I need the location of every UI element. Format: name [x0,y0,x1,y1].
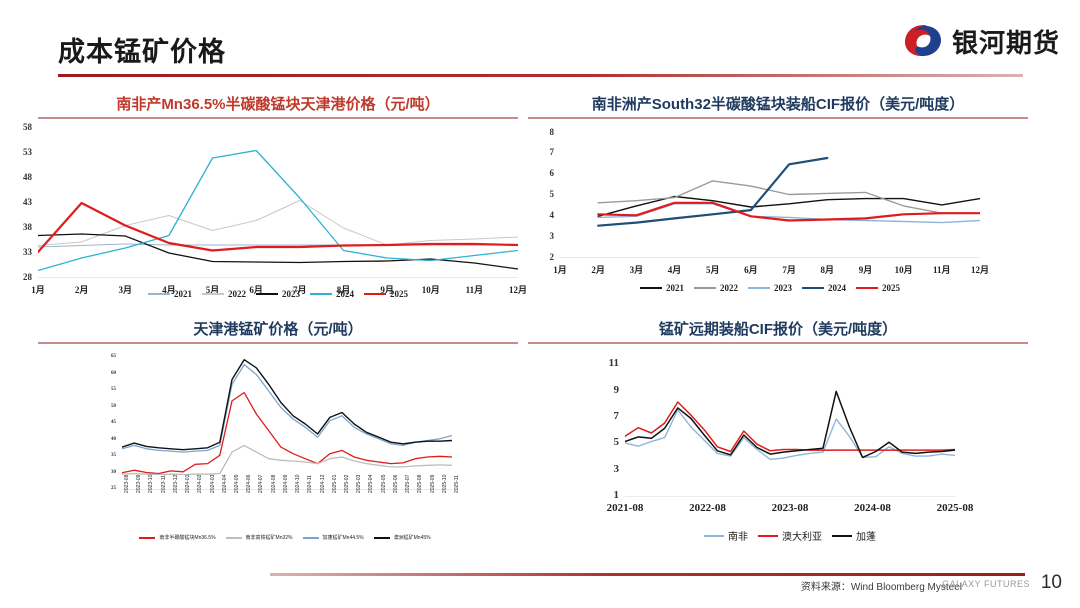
x-tick: 2025-08 [919,502,991,514]
x-tick: 2023-11 [161,475,167,493]
y-tick: 9 [587,384,619,396]
x-tick: 2024-03 [210,475,216,493]
x-tick: 2025-03 [356,475,362,493]
legend-item[interactable]: 2025 [364,289,408,299]
legend-item[interactable]: 南非 [704,528,748,543]
x-tick: 2024-07 [258,475,264,493]
panel-bottom-left: 天津港锰矿价格（元/吨） [38,318,518,344]
x-tick: 2025-01 [332,475,338,493]
x-tick: 2月 [582,263,614,276]
x-tick: 2025-09 [430,475,436,493]
y-tick: 3 [587,463,619,475]
x-tick: 7月 [773,263,805,276]
y-tick: 35 [84,453,116,458]
chart-bl [122,358,452,490]
x-tick: 2023-09 [136,475,142,493]
legend-label: 2021 [174,289,192,299]
legend-label: 加蓬锰矿Mn44.5% [323,534,364,541]
x-tick: 2023-08 [754,502,826,514]
chart-tl [38,128,518,278]
panel-bottom-right-title: 锰矿远期装船CIF报价（美元/吨度） [528,318,1028,339]
y-tick: 3 [522,231,554,241]
legend-item[interactable]: 澳大利亚 [758,528,822,543]
legend-label: 南非高铁锰矿Mn32% [246,534,293,541]
legend-label: 2025 [882,283,900,293]
y-tick: 30 [84,470,116,475]
legend-label: 加蓬 [856,528,876,543]
legend-label: 南非 [728,528,748,543]
chart-tr-legend: 20212022202320242025 [560,283,980,293]
legend-swatch [256,293,278,295]
y-tick: 40 [84,437,116,442]
y-tick: 28 [0,272,32,282]
x-tick: 4月 [659,263,691,276]
legend-item[interactable]: 2022 [694,283,738,293]
panel-bottom-left-title: 天津港锰矿价格（元/吨） [38,318,518,339]
x-tick: 11月 [926,263,958,276]
x-tick: 10月 [888,263,920,276]
legend-label: 南非半碳酸锰块Mn36.5% [159,534,215,541]
x-tick: 2024-08 [271,475,277,493]
legend-label: 2025 [390,289,408,299]
legend-swatch [139,537,155,539]
y-tick: 43 [0,197,32,207]
panel-top-right: 南非洲产South32半碳酸锰块装船CIF报价（美元/吨度） [528,93,1028,119]
x-tick: 2024-06 [246,475,252,493]
panel-top-right-rule [528,117,1028,119]
legend-item[interactable]: 南非半碳酸锰块Mn36.5% [139,534,215,541]
y-tick: 58 [0,122,32,132]
legend-item[interactable]: 加蓬锰矿Mn44.5% [303,534,364,541]
y-tick: 25 [84,486,116,491]
slide-root: 成本锰矿价格 银河期货 南非产Mn36.5%半碳酸锰块天津港价格（元/吨） 28… [0,0,1080,608]
legend-swatch [694,287,716,289]
x-tick: 2024-01 [185,475,191,493]
legend-swatch [704,535,724,537]
legend-swatch [202,293,224,295]
legend-swatch [832,535,852,537]
legend-swatch [226,537,242,539]
x-tick: 12月 [964,263,996,276]
legend-label: 2024 [336,289,354,299]
y-tick: 11 [587,357,619,369]
legend-swatch [374,537,390,539]
legend-item[interactable]: 2021 [640,283,684,293]
brand-name: 银河期货 [952,23,1060,60]
legend-label: 澳洲锰矿Mn45% [394,534,431,541]
legend-item[interactable]: 澳洲锰矿Mn45% [374,534,431,541]
legend-item[interactable]: 加蓬 [832,528,876,543]
x-tick: 5月 [697,263,729,276]
x-tick: 2023-12 [173,475,179,493]
y-tick: 2 [522,252,554,262]
footer-source: 资料来源：Wind Bloomberg Mysteel [801,578,962,593]
panel-top-right-title: 南非洲产South32半碳酸锰块装船CIF报价（美元/吨度） [528,93,1028,114]
y-tick: 1 [587,489,619,501]
legend-item[interactable]: 2024 [310,289,354,299]
footer-brand: GALAXY FUTURES [942,579,1030,589]
panel-bottom-right-rule [528,342,1028,344]
x-tick: 2024-02 [197,475,203,493]
y-tick: 45 [84,420,116,425]
galaxy-swirl-icon [902,22,944,60]
y-tick: 60 [84,371,116,376]
legend-label: 2023 [774,283,792,293]
chart-tr [560,133,980,258]
panel-bottom-left-rule [38,342,518,344]
legend-label: 澳大利亚 [782,528,822,543]
legend-swatch [364,293,386,295]
x-tick: 2024-11 [307,475,313,493]
x-tick: 2024-10 [295,475,301,493]
legend-swatch [148,293,170,295]
page-number: 10 [1041,572,1062,594]
x-tick: 2025-05 [381,475,387,493]
page-title: 成本锰矿价格 [58,30,226,69]
y-tick: 7 [522,147,554,157]
legend-swatch [758,535,778,537]
x-tick: 6月 [735,263,767,276]
x-tick: 3月 [620,263,652,276]
x-tick: 2025-04 [368,475,374,493]
x-tick: 2025-02 [344,475,350,493]
legend-item[interactable]: 2021 [148,289,192,299]
legend-item[interactable]: 2023 [748,283,792,293]
y-tick: 48 [0,172,32,182]
x-tick: 9月 [849,263,881,276]
chart-br [625,365,955,497]
brand-logo: 银河期货 [902,22,1060,60]
legend-item[interactable]: 2025 [856,283,900,293]
y-tick: 55 [84,387,116,392]
x-tick: 8月 [811,263,843,276]
panel-bottom-right: 锰矿远期装船CIF报价（美元/吨度） [528,318,1028,344]
x-tick: 2025-08 [417,475,423,493]
legend-swatch [748,287,770,289]
legend-swatch [856,287,878,289]
x-tick: 2023-08 [124,475,130,493]
x-tick: 2024-04 [222,475,228,493]
y-tick: 5 [587,436,619,448]
chart-tl-legend: 20212022202320242025 [38,289,518,299]
legend-swatch [640,287,662,289]
x-tick: 2021-08 [589,502,661,514]
panel-top-left-rule [38,117,518,119]
y-tick: 6 [522,168,554,178]
header-divider [58,74,1023,77]
y-tick: 65 [84,354,116,359]
y-tick: 38 [0,222,32,232]
legend-swatch [802,287,824,289]
legend-item[interactable]: 南非高铁锰矿Mn32% [226,534,293,541]
legend-swatch [310,293,332,295]
x-tick: 2024-09 [283,475,289,493]
legend-label: 2024 [828,283,846,293]
panel-top-left-title: 南非产Mn36.5%半碳酸锰块天津港价格（元/吨） [38,93,518,114]
legend-item[interactable]: 2024 [802,283,846,293]
x-tick: 2025-06 [393,475,399,493]
legend-label: 2021 [666,283,684,293]
legend-swatch [303,537,319,539]
legend-label: 2022 [228,289,246,299]
legend-item[interactable]: 2022 [202,289,246,299]
x-tick: 2023-10 [148,475,154,493]
y-tick: 33 [0,247,32,257]
y-tick: 53 [0,147,32,157]
x-tick: 2022-08 [672,502,744,514]
x-tick: 2024-08 [837,502,909,514]
footer-divider [270,573,1025,576]
y-tick: 8 [522,127,554,137]
x-tick: 1月 [544,263,576,276]
y-tick: 7 [587,410,619,422]
panel-top-left: 南非产Mn36.5%半碳酸锰块天津港价格（元/吨） [38,93,518,119]
legend-item[interactable]: 2023 [256,289,300,299]
x-tick: 2025-11 [454,475,460,493]
legend-label: 2022 [720,283,738,293]
legend-label: 2023 [282,289,300,299]
x-tick: 2025-07 [405,475,411,493]
x-tick: 2024-12 [320,475,326,493]
y-tick: 50 [84,404,116,409]
y-tick: 4 [522,210,554,220]
x-tick: 2024-05 [234,475,240,493]
x-tick: 2025-10 [442,475,448,493]
chart-bl-legend: 南非半碳酸锰块Mn36.5%南非高铁锰矿Mn32%加蓬锰矿Mn44.5%澳洲锰矿… [90,534,480,541]
y-tick: 5 [522,189,554,199]
chart-br-legend: 南非澳大利亚加蓬 [625,528,955,543]
